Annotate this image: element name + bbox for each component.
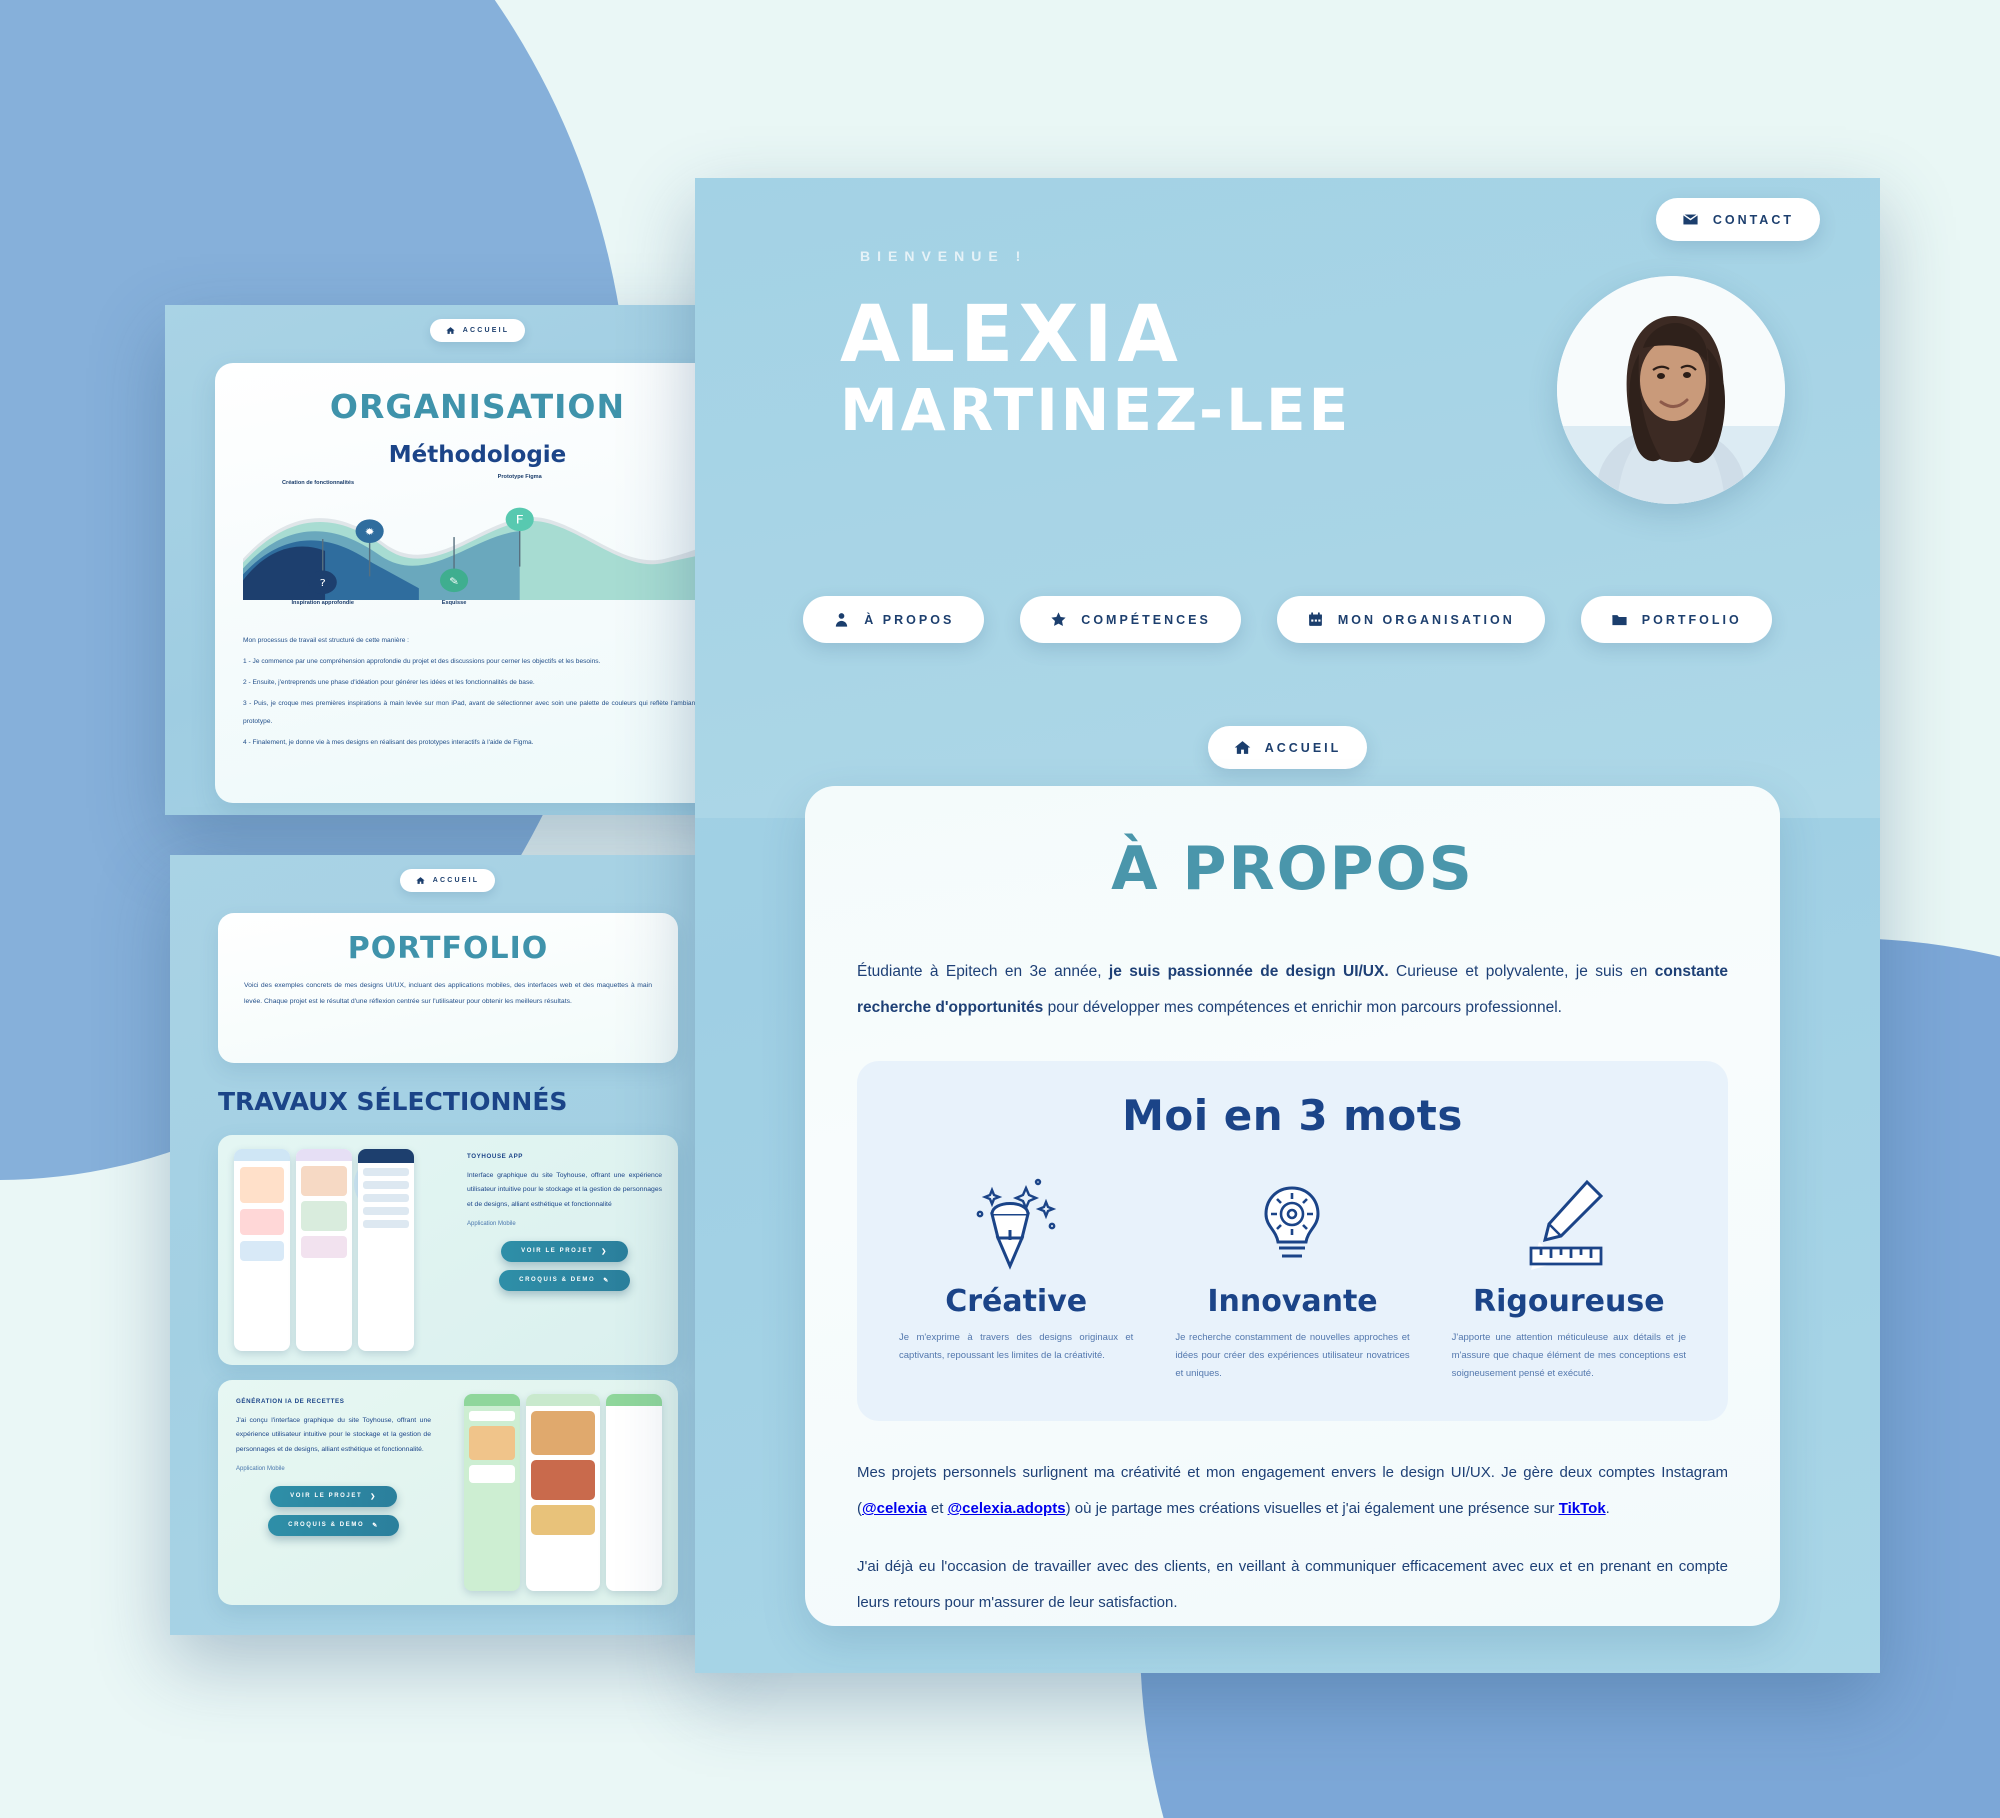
hero-first-name: ALEXIA (840, 296, 1351, 374)
project-card-recettes[interactable]: GÉNÉRATION IA DE RECETTES J'ai conçu l'i… (218, 1380, 678, 1605)
nav-label-3: PORTFOLIO (1642, 613, 1742, 627)
envelope-icon (1682, 211, 1699, 228)
moi-en-3-mots-title: Moi en 3 mots (891, 1091, 1694, 1140)
wave-label-1: Prototype Figma (498, 474, 542, 480)
svg-text:✹: ✹ (365, 526, 375, 538)
project-1-text: TOYHOUSE APP Interface graphique du site… (467, 1153, 662, 1291)
chevron-right-icon: ❯ (370, 1493, 377, 1500)
organisation-process-text: Mon processus de travail est structuré d… (243, 632, 712, 751)
moi-en-3-mots-box: Moi en 3 mots (857, 1061, 1728, 1421)
organisation-home-label: ACCUEIL (463, 327, 510, 334)
about-p2-b: et (927, 1500, 948, 1517)
nav-item-portfolio[interactable]: PORTFOLIO (1581, 596, 1772, 643)
about-intro-paragraph: Étudiante à Epitech en 3e année, je suis… (857, 954, 1728, 1027)
moi-column-creative: Créative Je m'exprime à travers des desi… (891, 1170, 1141, 1383)
chevron-right-icon: ❯ (601, 1248, 608, 1255)
project-1-buttons: VOIR LE PROJET ❯ CROQUIS & DEMO ✎ (467, 1241, 662, 1291)
project-2-body: J'ai conçu l'interface graphique du site… (236, 1414, 431, 1457)
nav-label-0: À PROPOS (864, 613, 954, 627)
phone-mockup (464, 1394, 520, 1591)
nav-item-mon-organisation[interactable]: MON ORGANISATION (1277, 596, 1545, 643)
nav-item-competences[interactable]: COMPÉTENCES (1020, 596, 1241, 643)
moi-desc-0: Je m'exprime à travers des designs origi… (891, 1329, 1141, 1365)
home-icon (446, 326, 455, 335)
organisation-step-1: 1 - Je commence par une compréhension ap… (243, 653, 712, 670)
svg-text:✎: ✎ (449, 575, 459, 587)
tiktok-link[interactable]: TikTok (1559, 1500, 1606, 1517)
contact-button[interactable]: CONTACT (1656, 198, 1820, 241)
instagram-link-celexia[interactable]: @celexia (862, 1500, 927, 1517)
moi-column-innovante: Innovante Je recherche constamment de no… (1167, 1170, 1417, 1383)
welcome-text: BIENVENUE ! (860, 248, 1027, 264)
home-icon (1234, 739, 1251, 756)
portfolio-home-button-row: ACCUEIL (170, 869, 725, 892)
about-section: À PROPOS Étudiante à Epitech en 3e année… (805, 786, 1780, 1626)
portfolio-intro-card: PORTFOLIO Voici des exemples concrets de… (218, 913, 678, 1063)
methodologie-block: Méthodologie F ✹ (243, 442, 712, 612)
hero-section: CONTACT BIENVENUE ! ALEXIA MARTINEZ-LEE (695, 178, 1880, 818)
organisation-home-button[interactable]: ACCUEIL (430, 319, 526, 342)
home-button-row: ACCUEIL (695, 726, 1880, 769)
organisation-step-2: 2 - Ensuite, j'entreprends une phase d'i… (243, 674, 712, 691)
organisation-intro: Mon processus de travail est structuré d… (243, 632, 712, 649)
moi-desc-1: Je recherche constamment de nouvelles ap… (1167, 1329, 1417, 1383)
project-2-view-button[interactable]: VOIR LE PROJET ❯ (270, 1486, 397, 1507)
project-1-tag: Application Mobile (467, 1221, 662, 1227)
project-1-view-label: VOIR LE PROJET (521, 1248, 593, 1254)
project-card-toyhouse[interactable]: TOYHOUSE APP Interface graphique du site… (218, 1135, 678, 1365)
methodologie-wave-diagram: F ✹ ? ✎ Création de fonctionnalités Prot… (243, 482, 712, 600)
project-2-kicker: GÉNÉRATION IA DE RECETTES (236, 1398, 431, 1405)
about-paragraph-2: Mes projets personnels surlignent ma cré… (857, 1455, 1728, 1527)
about-intro-part-2: Curieuse et polyvalente, je suis en (1389, 963, 1655, 980)
home-button[interactable]: ACCUEIL (1208, 726, 1368, 769)
about-paragraph-3: J'ai déjà eu l'occasion de travailler av… (857, 1549, 1728, 1621)
phone-mockup (296, 1149, 352, 1351)
organisation-title: ORGANISATION (243, 387, 712, 426)
project-1-mockups (234, 1149, 414, 1351)
about-p2-d: . (1606, 1500, 1610, 1517)
pen-sparkle-icon (891, 1170, 1141, 1270)
about-title: À PROPOS (857, 834, 1728, 904)
lightbulb-gear-icon (1167, 1170, 1417, 1270)
folder-icon (1611, 611, 1628, 628)
phone-mockup (234, 1149, 290, 1351)
portfolio-home-label: ACCUEIL (433, 877, 480, 884)
star-icon (1050, 611, 1067, 628)
about-intro-part-1: Étudiante à Epitech en 3e année, (857, 963, 1109, 980)
portfolio-screenshot: ACCUEIL PORTFOLIO Voici des exemples con… (170, 855, 725, 1635)
project-1-view-button[interactable]: VOIR LE PROJET ❯ (501, 1241, 628, 1262)
organisation-card: ORGANISATION Méthodologie (215, 363, 740, 803)
nav-item-a-propos[interactable]: À PROPOS (803, 596, 984, 643)
portfolio-section-heading: TRAVAUX SÉLECTIONNÉS (218, 1087, 567, 1116)
moi-word-1: Innovante (1167, 1284, 1417, 1319)
svg-text:?: ? (320, 577, 326, 589)
moi-column-rigoureuse: Rigoureuse J'apporte une attention métic… (1444, 1170, 1694, 1383)
project-1-demo-button[interactable]: CROQUIS & DEMO ✎ (499, 1270, 630, 1291)
phone-mockup (358, 1149, 414, 1351)
portfolio-home-button[interactable]: ACCUEIL (400, 869, 496, 892)
moi-word-0: Créative (891, 1284, 1141, 1319)
phone-mockup (606, 1394, 662, 1591)
hero-last-name: MARTINEZ-LEE (840, 374, 1351, 447)
methodologie-title: Méthodologie (243, 442, 712, 468)
project-1-body: Interface graphique du site Toyhouse, of… (467, 1169, 662, 1212)
wave-label-0: Création de fonctionnalités (282, 480, 354, 486)
project-2-view-label: VOIR LE PROJET (290, 1493, 362, 1499)
about-p2-c: ) où je partage mes créations visuelles … (1066, 1500, 1559, 1517)
avatar (1557, 276, 1785, 504)
about-intro-part-3: pour développer mes compétences et enric… (1043, 999, 1562, 1016)
project-2-tag: Application Mobile (236, 1466, 431, 1472)
about-intro-bold-1: je suis passionnée de design UI/UX. (1109, 963, 1389, 980)
portfolio-title: PORTFOLIO (244, 931, 652, 966)
wave-label-2: Inspiration approfondie (291, 600, 353, 606)
instagram-link-celexia-adopts[interactable]: @celexia.adopts (948, 1500, 1066, 1517)
ruler-pencil-icon (1444, 1170, 1694, 1270)
nav-label-2: MON ORGANISATION (1338, 613, 1515, 627)
moi-desc-2: J'apporte une attention méticuleuse aux … (1444, 1329, 1694, 1383)
person-icon (833, 611, 850, 628)
project-1-kicker: TOYHOUSE APP (467, 1153, 662, 1160)
home-icon (416, 876, 425, 885)
project-2-demo-label: CROQUIS & DEMO (288, 1522, 364, 1528)
project-2-text: GÉNÉRATION IA DE RECETTES J'ai conçu l'i… (236, 1398, 431, 1536)
main-nav: À PROPOS COMPÉTENCES MON ORGANISATION PO… (695, 596, 1880, 643)
project-1-demo-label: CROQUIS & DEMO (519, 1277, 595, 1283)
project-2-demo-button[interactable]: CROQUIS & DEMO ✎ (268, 1515, 399, 1536)
contact-button-label: CONTACT (1713, 213, 1794, 227)
pencil-icon: ✎ (372, 1522, 379, 1529)
hero-name: ALEXIA MARTINEZ-LEE (840, 296, 1351, 447)
avatar-portrait (1557, 276, 1785, 504)
portfolio-subtitle: Voici des exemples concrets de mes desig… (244, 978, 652, 1009)
project-2-buttons: VOIR LE PROJET ❯ CROQUIS & DEMO ✎ (236, 1486, 431, 1536)
moi-columns: Créative Je m'exprime à travers des desi… (891, 1170, 1694, 1383)
nav-label-1: COMPÉTENCES (1081, 613, 1211, 627)
organisation-step-3: 3 - Puis, je croque mes premières inspir… (243, 695, 712, 729)
phone-mockup (526, 1394, 600, 1591)
about-footer-text: Mes projets personnels surlignent ma cré… (857, 1455, 1728, 1621)
pencil-icon: ✎ (603, 1277, 610, 1284)
home-button-label: ACCUEIL (1265, 741, 1342, 755)
moi-word-2: Rigoureuse (1444, 1284, 1694, 1319)
main-site-screenshot: CONTACT BIENVENUE ! ALEXIA MARTINEZ-LEE (695, 178, 1880, 1673)
svg-text:F: F (516, 513, 524, 527)
calendar-icon (1307, 611, 1324, 628)
wave-label-3: Esquisse (442, 600, 467, 606)
organisation-step-4: 4 - Finalement, je donne vie à mes desig… (243, 734, 712, 751)
project-2-mockups (464, 1394, 662, 1591)
